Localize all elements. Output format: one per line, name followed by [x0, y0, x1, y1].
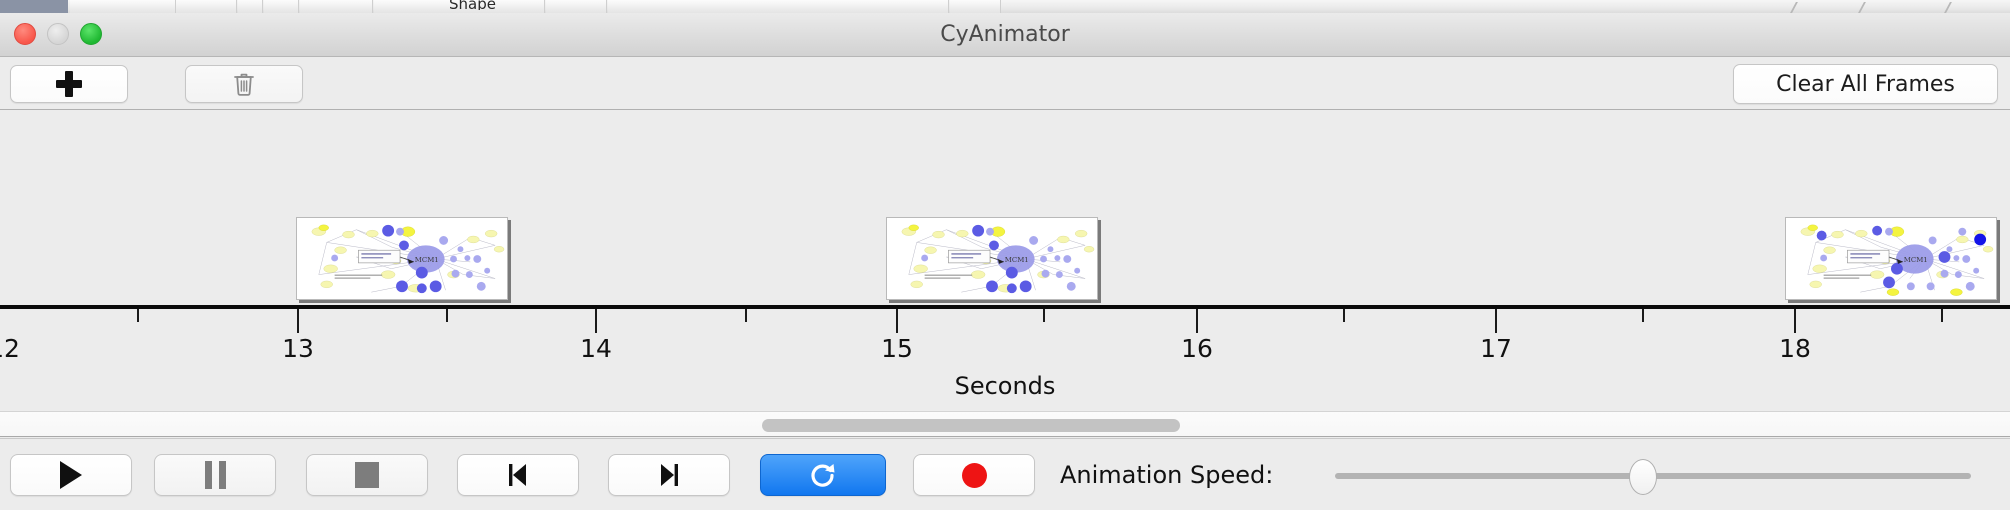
axis-tick-label: 17 [1480, 334, 1512, 363]
animation-speed-label: Animation Speed: [1060, 454, 1273, 496]
background-window-strip: Shape [0, 0, 2010, 13]
scrollbar-thumb[interactable] [762, 419, 1180, 432]
cyanimator-window: Shape CyAnimator Clear All Frames [0, 0, 2010, 510]
axis-major-tick [1196, 309, 1198, 333]
clear-all-frames-label: Clear All Frames [1776, 72, 1955, 97]
axis-tick-label: 12 [0, 334, 20, 363]
skip-next-icon [655, 461, 683, 489]
background-decor-icon [1790, 2, 1810, 13]
network-preview-icon: MCM1 [297, 218, 507, 299]
animation-speed-slider-thumb[interactable] [1629, 459, 1657, 495]
axis-minor-tick [1642, 309, 1644, 322]
background-window-label: Shape [449, 0, 496, 10]
axis-minor-tick [1343, 309, 1345, 322]
svg-text:MCM1: MCM1 [1005, 256, 1029, 264]
previous-frame-button[interactable] [457, 454, 579, 496]
add-frame-button[interactable] [10, 65, 128, 103]
background-chunk [238, 0, 263, 13]
background-chunk [950, 0, 1001, 13]
axis-minor-tick [1043, 309, 1045, 322]
pause-button[interactable] [154, 454, 276, 496]
timeline-scrollbar[interactable] [0, 411, 2010, 437]
titlebar: CyAnimator [0, 13, 2010, 57]
svg-text:MCM1: MCM1 [415, 256, 439, 264]
axis-tick-label: 16 [1181, 334, 1213, 363]
background-chunk [608, 0, 949, 13]
background-chunk [264, 0, 299, 13]
svg-text:MCM1: MCM1 [1904, 256, 1928, 264]
stop-icon [355, 462, 379, 488]
frame-thumbnail-1[interactable]: MCM1 [296, 217, 508, 300]
pause-icon [205, 461, 226, 489]
axis-minor-tick [1941, 309, 1943, 322]
record-button[interactable] [913, 454, 1035, 496]
axis-minor-tick [137, 309, 139, 322]
delete-frame-button[interactable] [185, 65, 303, 103]
axis-major-tick [595, 309, 597, 333]
axis-major-tick [1794, 309, 1796, 333]
background-chunk [546, 0, 607, 13]
axis-minor-tick [745, 309, 747, 322]
network-preview-icon: MCM1 [887, 218, 1097, 299]
next-frame-button[interactable] [608, 454, 730, 496]
record-icon [962, 463, 987, 488]
frames-toolbar: Clear All Frames [0, 57, 2010, 110]
background-chunk [70, 0, 176, 13]
frame-thumbnail-3[interactable]: MCM1 [1785, 217, 1997, 300]
play-button[interactable] [10, 454, 132, 496]
skip-previous-icon [504, 461, 532, 489]
network-preview-icon: MCM1 [1786, 218, 1996, 299]
plus-icon [56, 71, 82, 97]
window-title: CyAnimator [0, 13, 2010, 57]
axis-title: Seconds [0, 372, 2010, 400]
axis-tick-label: 13 [282, 334, 314, 363]
loop-button[interactable] [760, 454, 886, 496]
play-icon [60, 461, 82, 489]
loop-icon [808, 460, 838, 490]
axis-major-tick [297, 309, 299, 333]
stop-button[interactable] [306, 454, 428, 496]
frame-thumbnail-2[interactable]: MCM1 [886, 217, 1098, 300]
playback-controlbar: Animation Speed: [0, 438, 2010, 510]
axis-major-tick [1495, 309, 1497, 333]
background-chunk [176, 0, 237, 13]
trash-icon [232, 71, 256, 97]
axis-major-tick [896, 309, 898, 333]
timeline-axis [0, 305, 2010, 309]
axis-tick-label: 15 [881, 334, 913, 363]
background-selected-chunk [0, 0, 68, 13]
clear-all-frames-button[interactable]: Clear All Frames [1733, 64, 1998, 104]
axis-tick-label: 18 [1779, 334, 1811, 363]
axis-minor-tick [446, 309, 448, 322]
timeline-panel[interactable]: MCM1 [0, 110, 2010, 411]
axis-tick-label: 14 [580, 334, 612, 363]
background-decor-icon [1944, 2, 1964, 13]
background-chunk [300, 0, 373, 13]
background-decor-icon [1858, 2, 1878, 13]
